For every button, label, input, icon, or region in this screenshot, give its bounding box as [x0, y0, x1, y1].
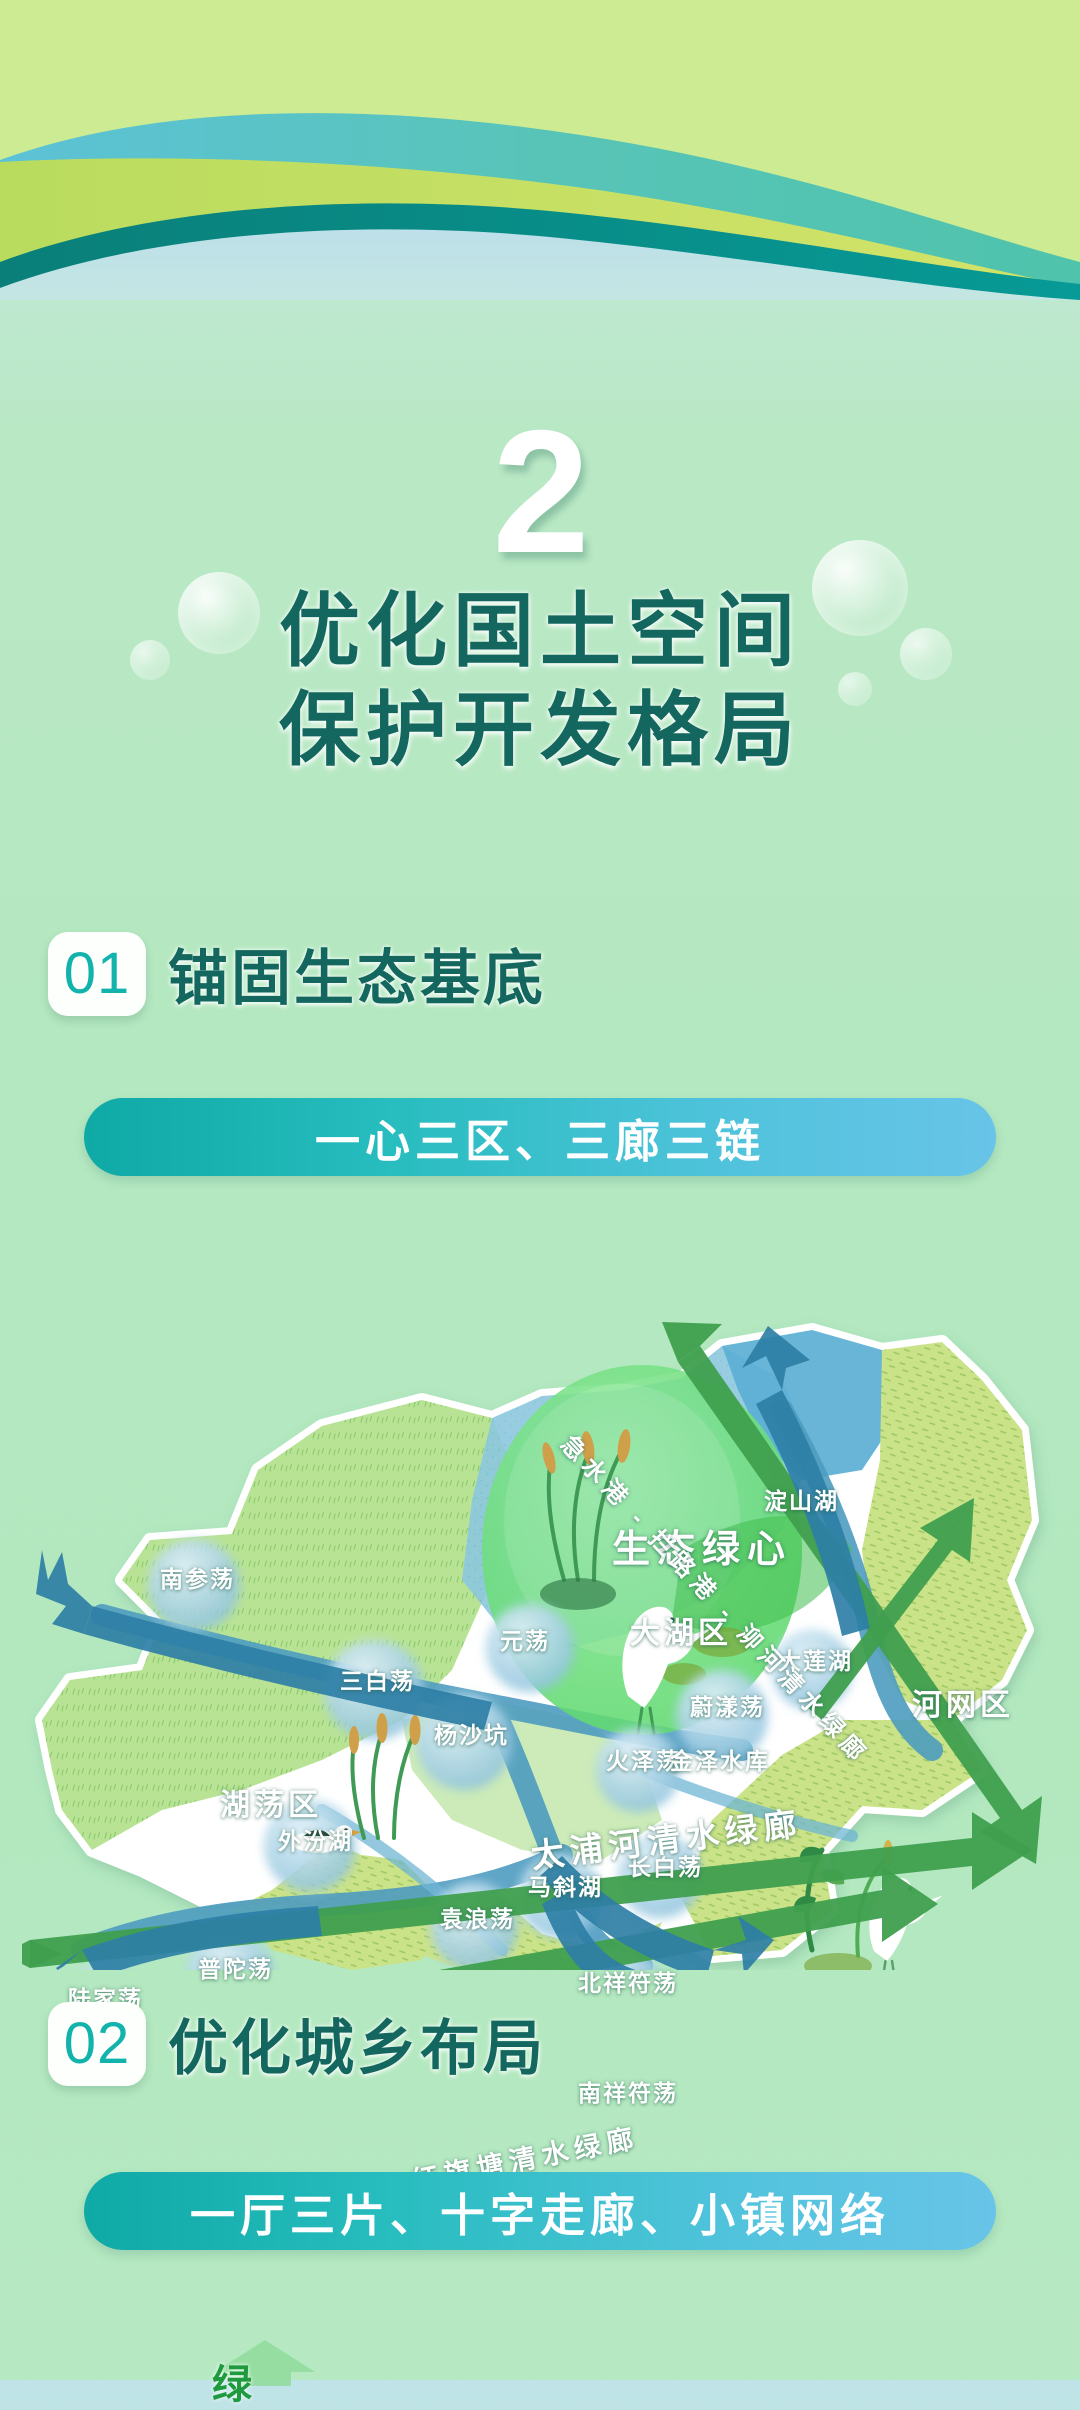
banner-pill-02-label: 一厅三片、十字走廊、小镇网络 — [190, 2179, 890, 2244]
wave-svg — [0, 0, 1080, 300]
banner-pill-01-label: 一心三区、三廊三链 — [315, 1105, 765, 1170]
map-lilypad-icon — [692, 1627, 752, 1657]
page-title-line-2: 保护开发格局 — [0, 689, 1080, 774]
banner-pill-02: 一厅三片、十字走廊、小镇网络 — [84, 2172, 996, 2250]
map-label-water-16: 南祥符荡 — [578, 2074, 678, 2108]
page-title: 优化国土空间 保护开发格局 — [0, 590, 1080, 774]
section-title-02: 优化城乡布局 — [168, 2000, 546, 2087]
map-svg — [22, 1250, 1062, 1970]
banner-pill-01: 一心三区、三廊三链 — [84, 1098, 996, 1176]
section-badge-01: 01 — [48, 932, 146, 1016]
section-header-01: 01 锚固生态基底 — [48, 930, 546, 1017]
ecological-structure-map: 生态绿心 大湖区 湖荡区 河网区 南参荡 三白荡 元荡 杨沙坑 淀山湖 大莲湖 … — [22, 1250, 1062, 1970]
section-number: 2 — [0, 405, 1080, 580]
section-header-02: 02 优化城乡布局 — [48, 2000, 546, 2087]
page-title-line-1: 优化国土空间 — [0, 590, 1080, 675]
section-title-01: 锚固生态基底 — [168, 930, 546, 1017]
section-badge-02: 02 — [48, 2002, 146, 2086]
footer-partial-label: 绿 — [212, 2352, 254, 2410]
header-wave-decoration — [0, 0, 1080, 300]
